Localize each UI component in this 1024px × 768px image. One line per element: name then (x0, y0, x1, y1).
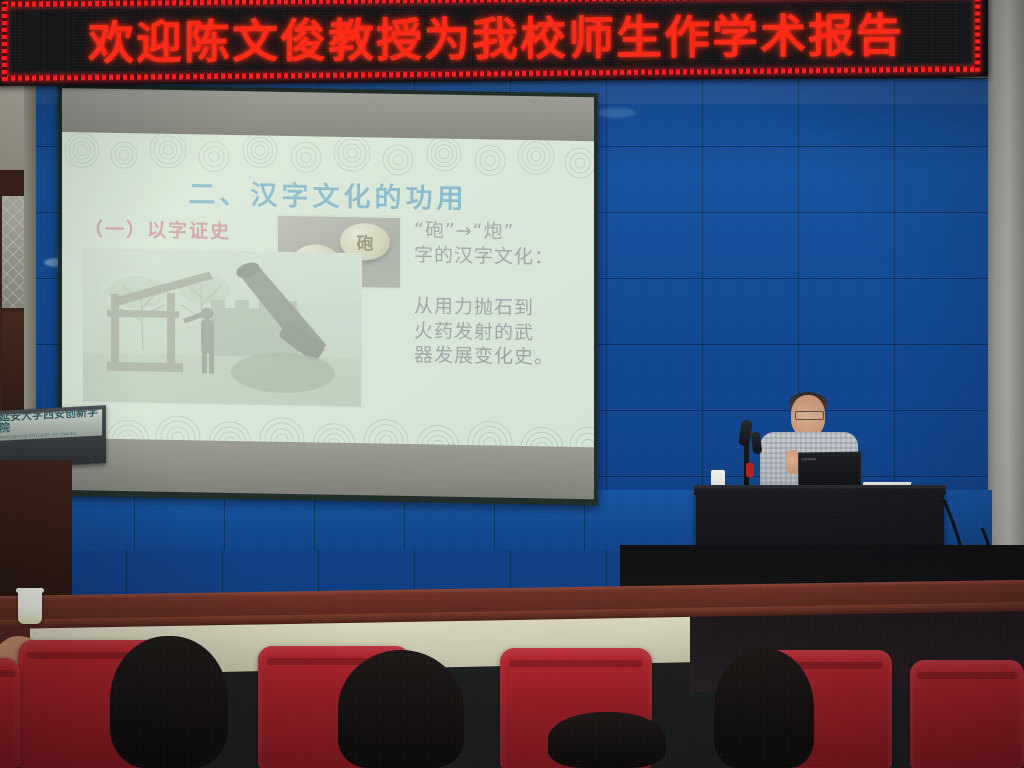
left-door-lattice-window (2, 196, 24, 308)
microphone-red-band (746, 463, 754, 477)
audience-head (714, 648, 814, 768)
led-welcome-banner: 欢迎陈文俊教授为我校师生作学术报告 (0, 0, 988, 86)
led-border-right (975, 0, 980, 72)
led-border-left (2, 2, 7, 81)
laptop-brand-label: Lenovo (802, 456, 816, 461)
audience-seat (910, 660, 1024, 768)
foreground-paper-cup (18, 590, 42, 624)
left-door-lower-panel (2, 312, 24, 417)
presenter-glasses (795, 411, 824, 420)
led-banner-text: 欢迎陈文俊教授为我校师生作学术报告 (88, 1, 928, 71)
cannon-photo (82, 248, 362, 407)
podium-sign: 延安大学西安创新学院 INNOVATION COLLEGE OF YAN'AN … (0, 409, 102, 440)
lecture-hall-photo: 二、汉字文化的功用 （一）以字证史 炮 砲 (0, 0, 1024, 768)
slide-title: 二、汉字文化的功用 (62, 170, 594, 218)
slide-right-text-1: “砲”→“炮” 字的汉字文化： (414, 218, 554, 270)
audience-seat (0, 658, 20, 768)
audience-head (110, 636, 228, 768)
audience-head (338, 650, 464, 768)
wall-scuff-3 (596, 108, 636, 118)
audience-head (548, 712, 666, 768)
slide-right-text-2: 从用力抛石到 火药发射的武 器发展变化史。 (414, 294, 554, 371)
projected-slide: 二、汉字文化的功用 （一）以字证史 炮 砲 (62, 132, 594, 449)
projection-screen-bottom-margin (64, 438, 594, 499)
slide-subtitle: （一）以字证史 (84, 214, 231, 244)
